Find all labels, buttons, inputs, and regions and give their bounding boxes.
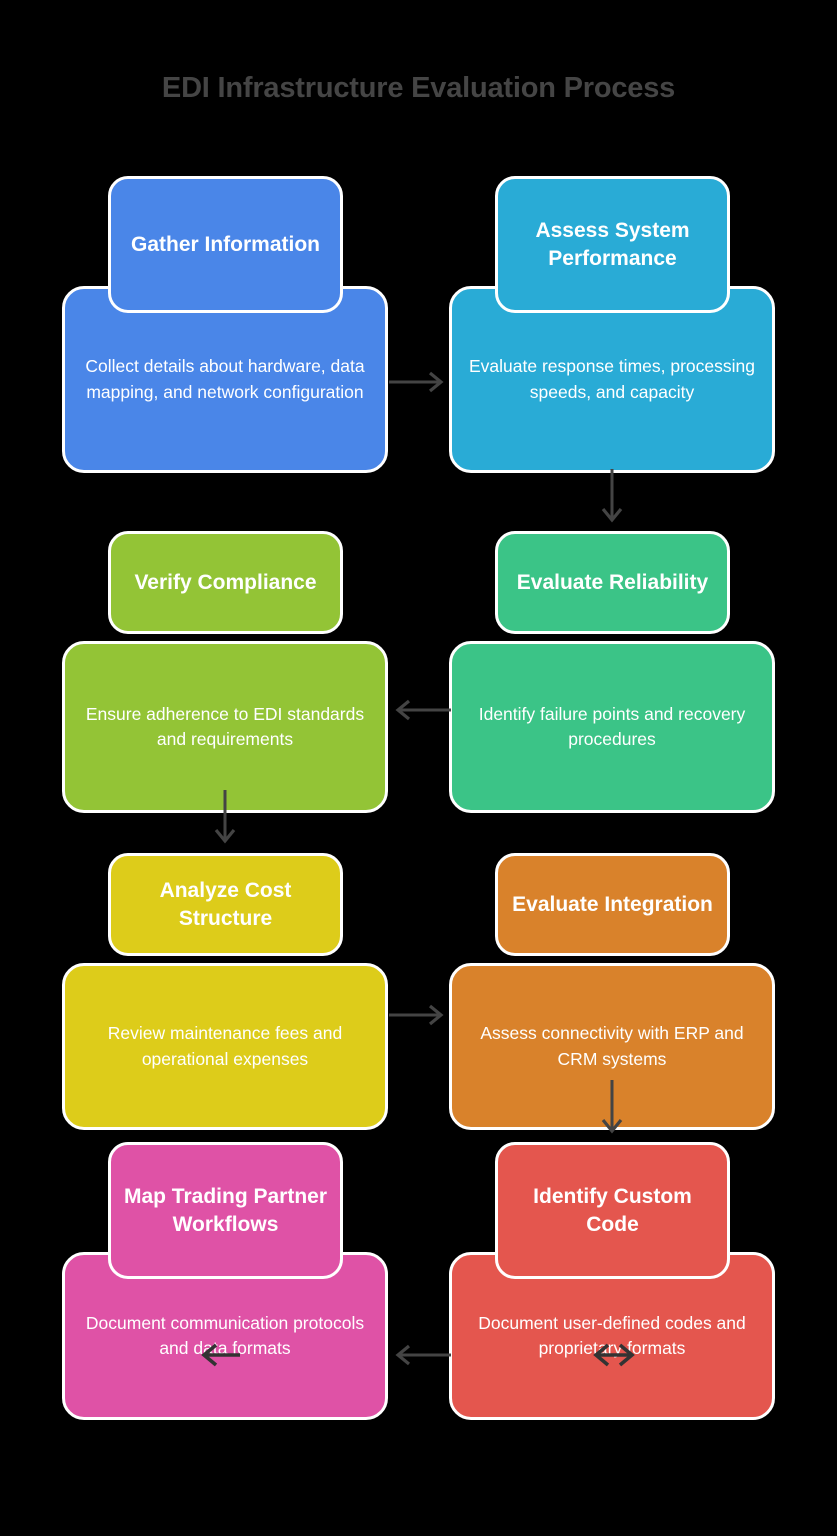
node-header-verify-compliance[interactable]: Verify Compliance xyxy=(108,531,343,634)
node-header-evaluate-integration[interactable]: Evaluate Integration xyxy=(495,853,730,956)
node-body-text: Evaluate response times, processing spee… xyxy=(466,354,758,405)
node-header-map-trading-partner-workflows[interactable]: Map Trading Partner Workflows xyxy=(108,1142,343,1279)
node-body-evaluate-reliability: Identify failure points and recovery pro… xyxy=(449,641,775,813)
node-body-text: Review maintenance fees and operational … xyxy=(79,1021,371,1072)
connector-overlay-left-pink xyxy=(193,1344,241,1366)
node-header-text: Evaluate Integration xyxy=(512,891,713,919)
node-body-text: Ensure adherence to EDI standards and re… xyxy=(79,702,371,753)
node-header-assess-system-performance[interactable]: Assess System Performance xyxy=(495,176,730,313)
node-body-analyze-cost-structure: Review maintenance fees and operational … xyxy=(62,963,388,1130)
node-header-text: Identify Custom Code xyxy=(508,1183,717,1239)
node-header-text: Assess System Performance xyxy=(508,217,717,273)
node-header-text: Analyze Cost Structure xyxy=(121,877,330,933)
node-header-text: Verify Compliance xyxy=(134,569,316,597)
node-header-text: Evaluate Reliability xyxy=(517,569,708,597)
connector-compliance-to-cost xyxy=(215,790,235,852)
node-header-evaluate-reliability[interactable]: Evaluate Reliability xyxy=(495,531,730,634)
node-body-text: Collect details about hardware, data map… xyxy=(79,354,371,405)
node-body-text: Identify failure points and recovery pro… xyxy=(466,702,758,753)
connector-overlay-bidirectional-red xyxy=(586,1344,642,1366)
node-body-assess-system-performance: Evaluate response times, processing spee… xyxy=(449,286,775,473)
node-body-gather-information: Collect details about hardware, data map… xyxy=(62,286,388,473)
node-header-identify-custom-code[interactable]: Identify Custom Code xyxy=(495,1142,730,1279)
node-body-verify-compliance: Ensure adherence to EDI standards and re… xyxy=(62,641,388,813)
connector-gather-to-assess xyxy=(388,372,452,392)
node-header-text: Map Trading Partner Workflows xyxy=(121,1183,330,1239)
connector-reliability-to-compliance xyxy=(388,700,452,720)
node-body-text: Assess connectivity with ERP and CRM sys… xyxy=(466,1021,758,1072)
node-header-text: Gather Information xyxy=(131,231,320,259)
connector-cost-to-integration xyxy=(388,1005,452,1025)
node-header-gather-information[interactable]: Gather Information xyxy=(108,176,343,313)
connector-custom-code-to-map-workflows xyxy=(388,1345,452,1365)
connector-assess-to-reliability xyxy=(602,469,622,531)
connector-integration-to-custom-code xyxy=(602,1080,622,1142)
page-title: EDI Infrastructure Evaluation Process xyxy=(0,72,837,105)
node-header-analyze-cost-structure[interactable]: Analyze Cost Structure xyxy=(108,853,343,956)
flowchart-canvas: EDI Infrastructure Evaluation Process Co… xyxy=(0,0,837,1536)
